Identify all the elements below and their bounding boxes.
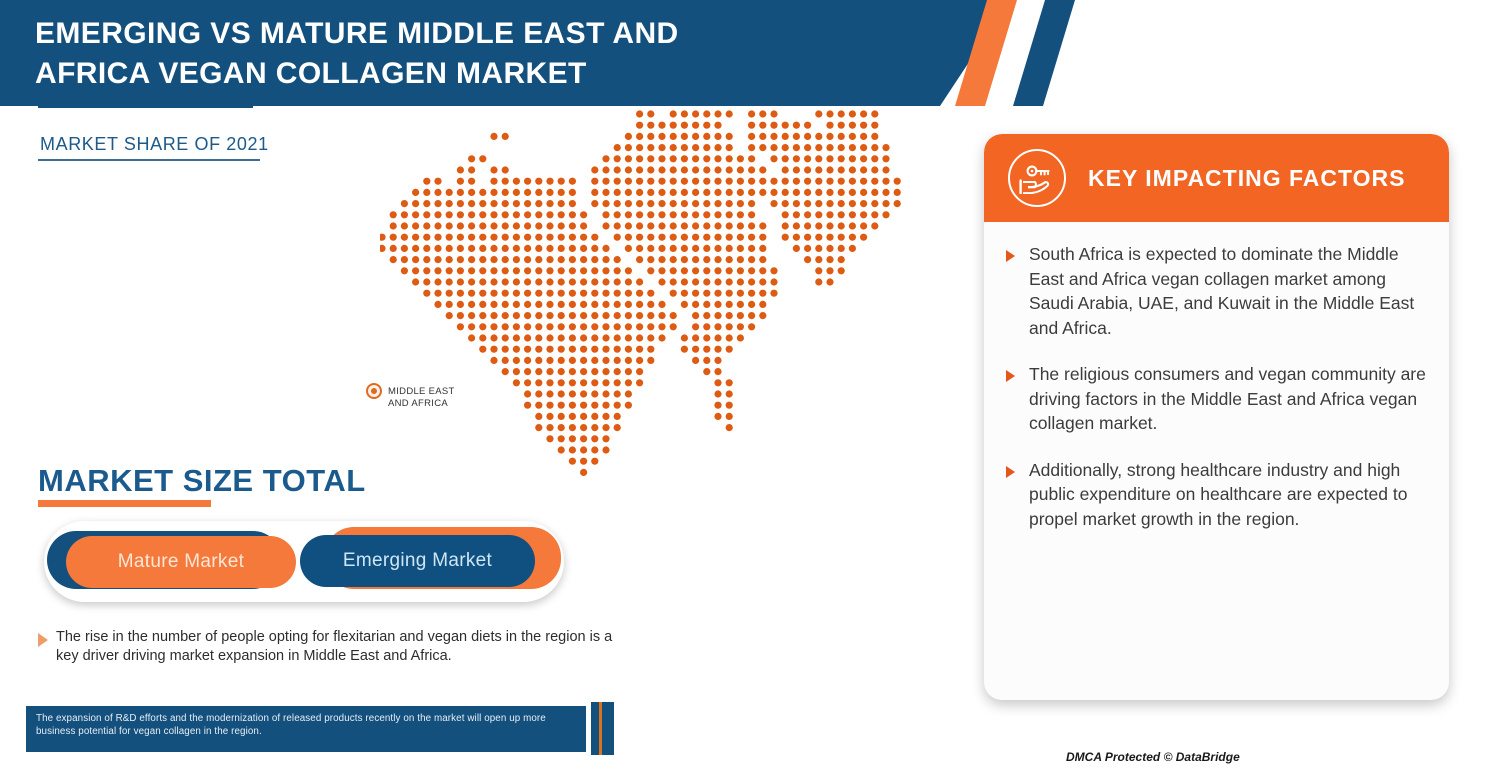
triangle-bullet-icon (1006, 466, 1015, 478)
list-item: Additionally, strong healthcare industry… (998, 458, 1431, 532)
page-title-line-2: AFRICA VEGAN COLLAGEN MARKET (35, 54, 915, 94)
market-size-total-title: MARKET SIZE TOTAL (38, 463, 366, 499)
bullet-text: The religious consumers and vegan commun… (1029, 362, 1431, 436)
bullet-text: South Africa is expected to dominate the… (1029, 242, 1431, 340)
map-marker-label: MIDDLE EAST AND AFRICA (388, 386, 455, 410)
dot-map-svg (380, 110, 940, 580)
footer-note-text: The expansion of R&D efforts and the mod… (36, 712, 576, 738)
header-stripe-navy (1013, 0, 1075, 106)
market-share-rule-top (38, 105, 253, 108)
key-impacting-factors-panel: KEY IMPACTING FACTORS South Africa is ex… (984, 134, 1449, 700)
list-item: The religious consumers and vegan commun… (998, 362, 1431, 436)
page-title: EMERGING VS MATURE MIDDLE EAST AND AFRIC… (35, 14, 915, 94)
legend-pill-emerging-front[interactable]: Emerging Market (300, 535, 535, 587)
dmca-notice: DMCA Protected © DataBridge (1066, 750, 1240, 764)
page-title-line-1: EMERGING VS MATURE MIDDLE EAST AND (35, 14, 915, 54)
dot-map (380, 110, 940, 580)
driver-note-text: The rise in the number of people opting … (56, 628, 628, 666)
legend-pill-mature-front[interactable]: Mature Market (66, 536, 296, 588)
infographic-root: EMERGING VS MATURE MIDDLE EAST AND AFRIC… (0, 0, 1493, 769)
panel-body: South Africa is expected to dominate the… (984, 222, 1449, 553)
header-banner: EMERGING VS MATURE MIDDLE EAST AND AFRIC… (0, 0, 1080, 106)
footer-tab-navy-left (591, 702, 599, 755)
map-marker-label-line-2: AND AFRICA (388, 398, 455, 410)
map-marker-label-line-1: MIDDLE EAST (388, 386, 455, 398)
triangle-bullet-icon (38, 633, 48, 647)
market-share-rule-bottom (38, 159, 260, 161)
legend-pill-mature-market[interactable]: Mature Market (47, 531, 307, 593)
triangle-bullet-icon (1006, 250, 1015, 262)
middle-east-africa-marker-icon (366, 383, 382, 399)
market-size-total-underline (38, 500, 211, 507)
legend-pill-emerging-market[interactable]: Emerging Market (300, 527, 565, 595)
bullet-text: Additionally, strong healthcare industry… (1029, 458, 1431, 532)
hand-holding-key-icon (1008, 149, 1066, 207)
panel-header: KEY IMPACTING FACTORS (984, 134, 1449, 222)
footer-tab-navy-right (602, 702, 614, 755)
driver-note: The rise in the number of people opting … (38, 628, 628, 666)
list-item: South Africa is expected to dominate the… (998, 242, 1431, 340)
market-share-label: MARKET SHARE OF 2021 (40, 134, 269, 155)
panel-title: KEY IMPACTING FACTORS (1088, 165, 1405, 192)
triangle-bullet-icon (1006, 370, 1015, 382)
